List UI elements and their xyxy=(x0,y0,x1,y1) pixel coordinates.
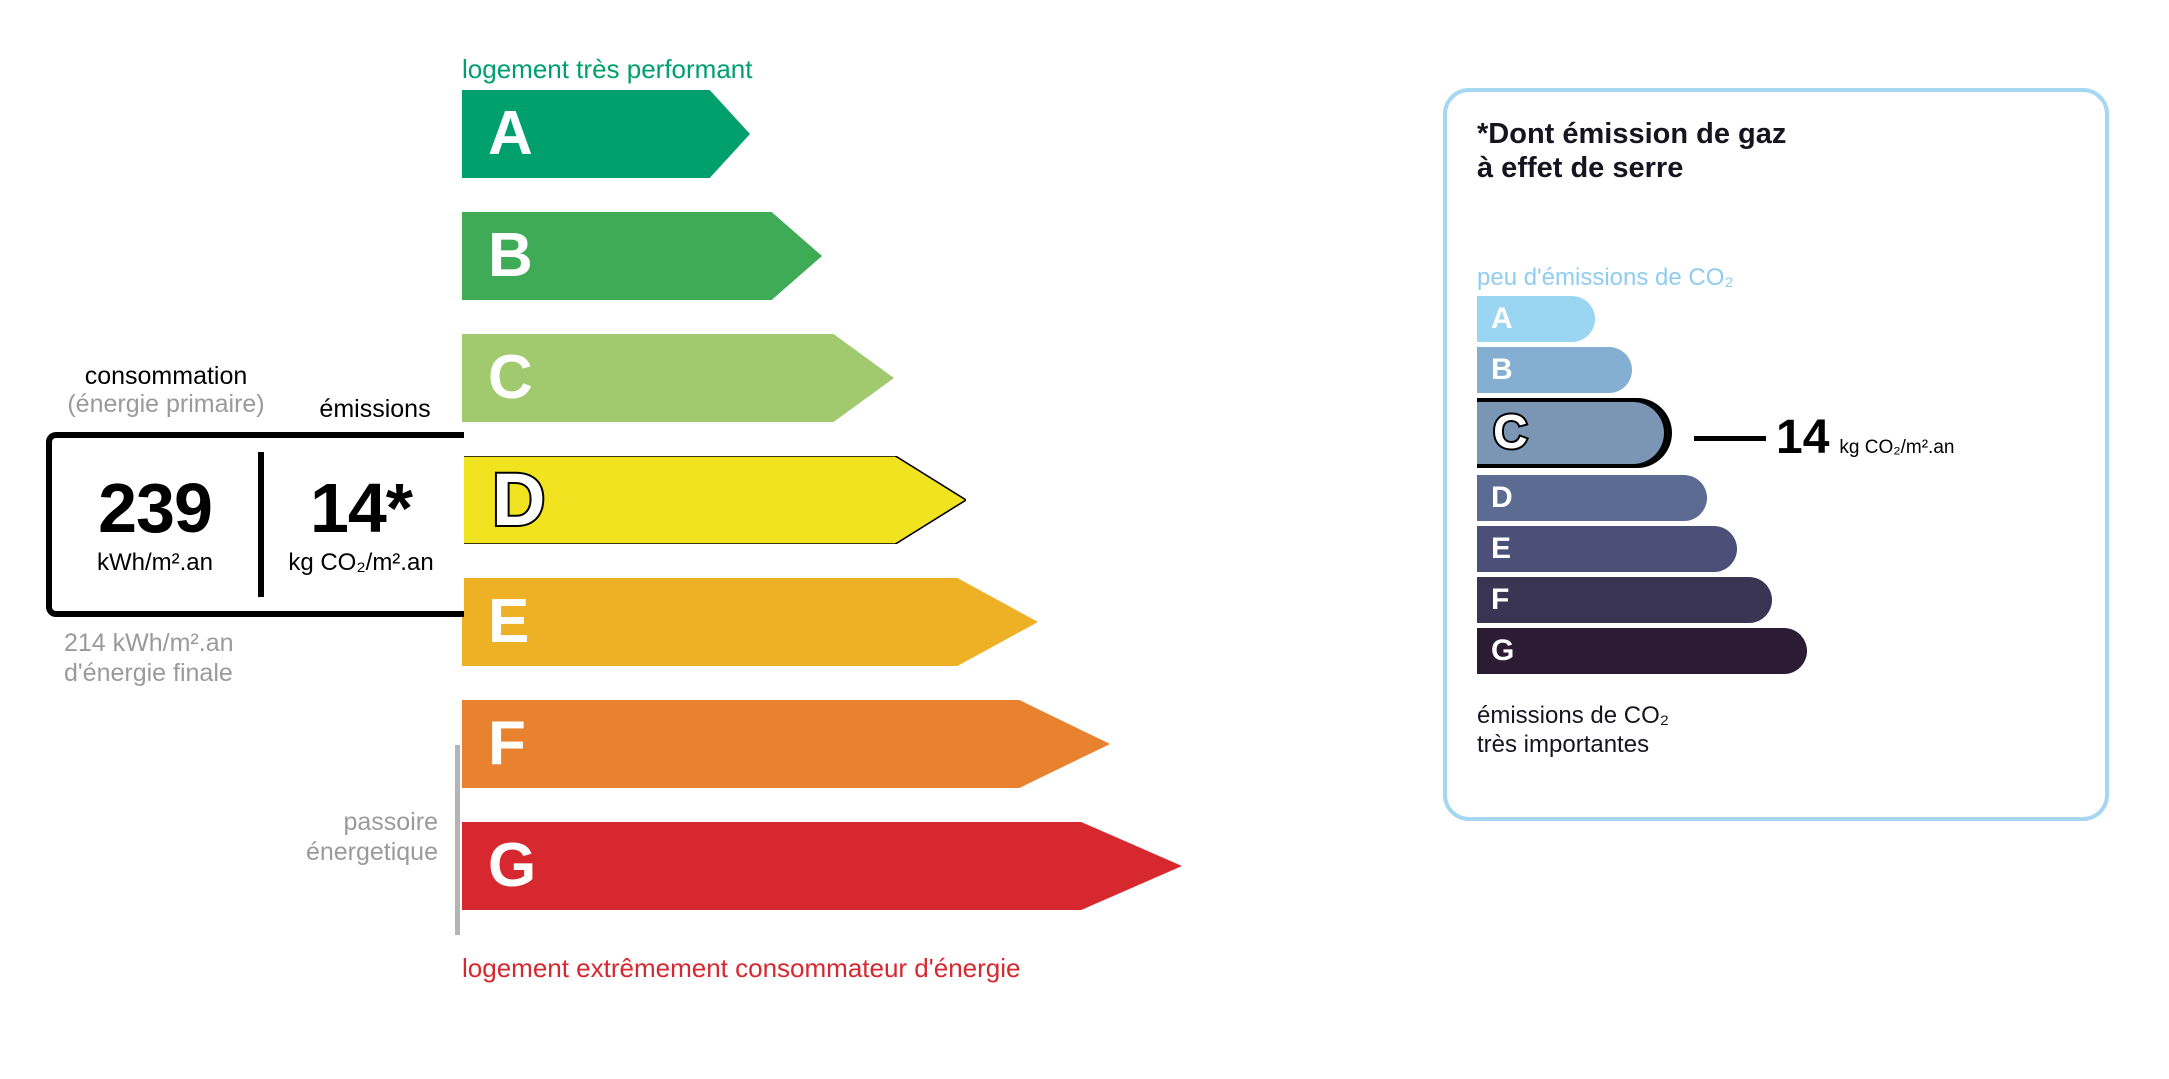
band-letter-e: E xyxy=(488,591,529,653)
co2-bar-shape: G xyxy=(1477,628,1807,674)
energy-band-f[interactable]: F xyxy=(462,700,1110,788)
passoire-bracket xyxy=(455,745,460,935)
passoire-line1: passoire xyxy=(306,807,438,837)
band-arrow-shape: F xyxy=(462,700,1110,788)
arrow-icon xyxy=(462,822,1182,910)
consumption-label-line1: consommation xyxy=(46,362,286,390)
co2-callout-unit: kg CO₂/m².an xyxy=(1839,437,1954,459)
co2-bar-shape: C xyxy=(1477,398,1672,468)
final-energy-line2: d'énergie finale xyxy=(64,658,234,688)
co2-letter-d: D xyxy=(1491,483,1513,513)
consumption-label: consommation (énergie primaire) xyxy=(46,362,286,418)
dpe-label: logement très performant ABCDEFG logemen… xyxy=(0,0,2169,1079)
energy-band-b[interactable]: B xyxy=(462,212,822,300)
co2-bar-d[interactable]: D xyxy=(1477,475,2077,521)
co2-bar-shape: A xyxy=(1477,296,1595,342)
co2-bar-g[interactable]: G xyxy=(1477,628,2077,674)
co2-letter-g: G xyxy=(1491,636,1514,666)
energy-band-g[interactable]: G xyxy=(462,822,1182,910)
final-energy-note: 214 kWh/m².an d'énergie finale xyxy=(64,628,234,688)
value-box: 239 kWh/m².an 14* kg CO₂/m².an xyxy=(46,432,464,617)
emissions-value-cell: 14* kg CO₂/m².an xyxy=(258,438,464,611)
co2-bottom-caption-line1: émissions de CO₂ xyxy=(1477,702,1669,731)
co2-bar-shape: F xyxy=(1477,577,1772,623)
callout-leader-line xyxy=(1694,436,1766,441)
band-arrow-shape: E xyxy=(462,578,1038,666)
energy-band-e[interactable]: E xyxy=(462,578,1038,666)
energy-top-caption: logement très performant xyxy=(462,54,752,85)
arrow-icon xyxy=(462,700,1110,788)
emissions-label: émissions xyxy=(290,395,460,424)
co2-bottom-caption: émissions de CO₂ très importantes xyxy=(1477,702,1669,760)
energy-band-c[interactable]: C xyxy=(462,334,894,422)
co2-bar-shape: D xyxy=(1477,475,1707,521)
co2-callout: 14kg CO₂/m².an xyxy=(1694,414,1954,462)
co2-bar-b[interactable]: B xyxy=(1477,347,2077,393)
band-letter-f: F xyxy=(488,713,526,775)
co2-title-line2: à effet de serre xyxy=(1477,152,1786,186)
band-letter-b: B xyxy=(488,225,533,287)
energy-bottom-caption: logement extrêmement consommateur d'éner… xyxy=(462,953,1020,984)
band-arrow-shape: D xyxy=(462,456,966,544)
consumption-value-cell: 239 kWh/m².an xyxy=(52,438,258,611)
passoire-line2: énergetique xyxy=(306,837,438,867)
co2-bar-shape: B xyxy=(1477,347,1632,393)
passoire-text: passoire énergetique xyxy=(306,807,438,867)
co2-bar-list: ABC14kg CO₂/m².anDEFG xyxy=(1477,296,2077,679)
co2-letter-f: F xyxy=(1491,585,1509,615)
co2-bar-f[interactable]: F xyxy=(1477,577,2077,623)
co2-top-caption: peu d'émissions de CO₂ xyxy=(1477,264,1734,292)
band-arrow-shape: G xyxy=(462,822,1182,910)
co2-letter-e: E xyxy=(1491,534,1511,564)
co2-panel-title: *Dont émission de gaz à effet de serre xyxy=(1477,118,1786,185)
arrow-icon xyxy=(462,578,1038,666)
passoire-energetique-marker: passoire énergetique xyxy=(250,745,460,935)
band-letter-a: A xyxy=(488,103,533,165)
co2-emissions-panel: *Dont émission de gaz à effet de serre p… xyxy=(1443,88,2109,821)
value-divider xyxy=(258,452,264,597)
consumption-value: 239 xyxy=(98,473,212,543)
co2-letter-a: A xyxy=(1491,304,1513,334)
band-letter-c: C xyxy=(488,347,533,409)
energy-band-a[interactable]: A xyxy=(462,90,750,178)
band-arrow-shape: B xyxy=(462,212,822,300)
energy-band-ladder: ABCDEFG xyxy=(462,90,1262,945)
energy-performance-panel: logement très performant ABCDEFG logemen… xyxy=(0,0,1400,1079)
co2-bar-shape: E xyxy=(1477,526,1737,572)
co2-letter-b: B xyxy=(1491,355,1513,385)
co2-letter-c: C xyxy=(1493,409,1528,457)
co2-bar-a[interactable]: A xyxy=(1477,296,2077,342)
band-arrow-shape: A xyxy=(462,90,750,178)
band-letter-g: G xyxy=(488,835,536,897)
co2-bottom-caption-line2: très importantes xyxy=(1477,731,1669,760)
consumption-unit: kWh/m².an xyxy=(97,549,213,577)
consumption-label-line2: (énergie primaire) xyxy=(46,390,286,418)
emissions-value: 14* xyxy=(310,473,412,543)
co2-callout-value: 14 xyxy=(1776,414,1829,462)
co2-bar-c[interactable]: C14kg CO₂/m².an xyxy=(1477,398,2077,468)
energy-band-d[interactable]: D xyxy=(462,456,966,544)
band-letter-d: D xyxy=(492,463,545,537)
co2-title-line1: *Dont émission de gaz xyxy=(1477,118,1786,152)
emissions-unit: kg CO₂/m².an xyxy=(288,549,433,577)
band-arrow-shape: C xyxy=(462,334,894,422)
final-energy-line1: 214 kWh/m².an xyxy=(64,628,234,658)
co2-bar-e[interactable]: E xyxy=(1477,526,2077,572)
